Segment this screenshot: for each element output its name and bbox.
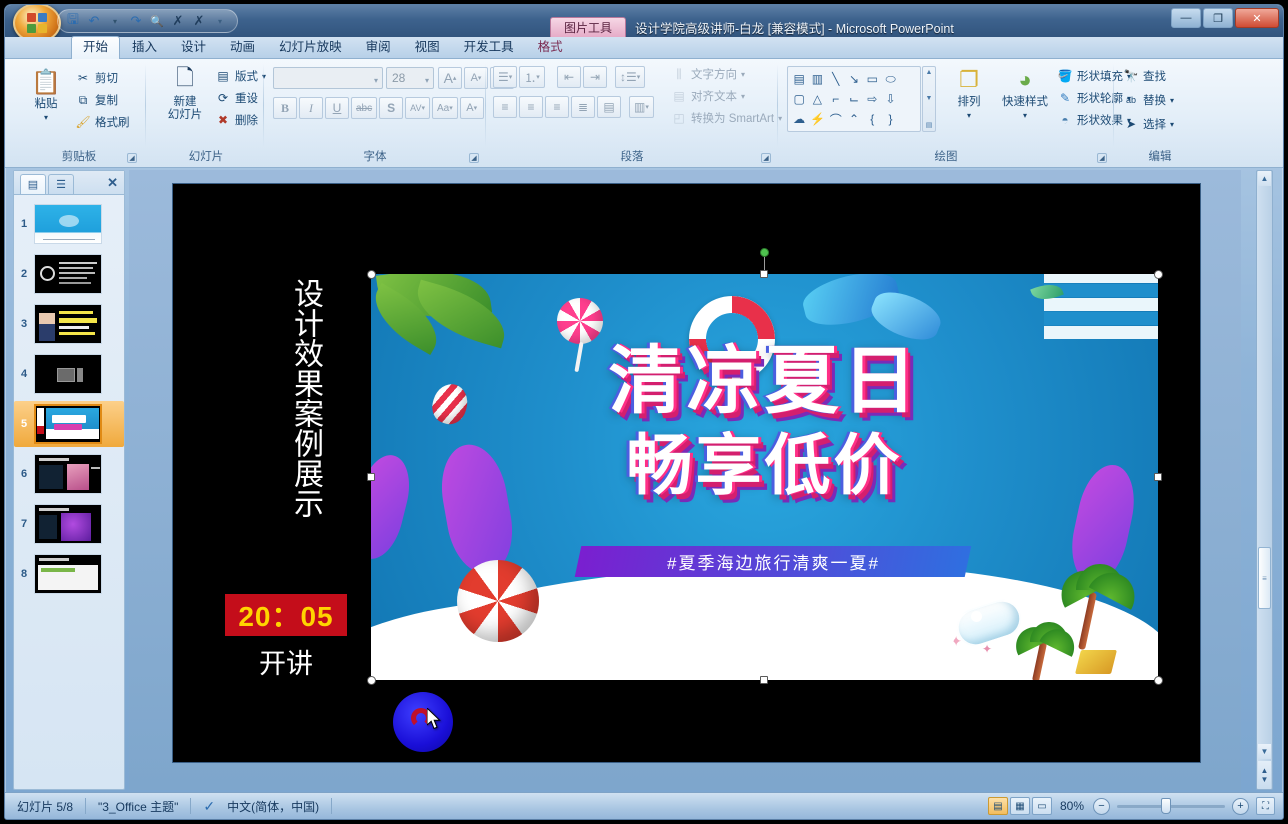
quick-styles-label: 快速样式 [1002, 96, 1048, 109]
lollipop-icon [557, 298, 603, 344]
copy-button[interactable]: ⧉ 复制 [75, 90, 118, 110]
align-left-button[interactable]: ≡ [493, 96, 517, 118]
quick-styles-arrow[interactable]: ▾ [1023, 109, 1027, 122]
binoculars-icon: 🔭 [1123, 68, 1139, 84]
pane-tabs: ▤ ☰ ✕ [14, 171, 124, 195]
thumbnail-preview[interactable] [34, 504, 102, 544]
thumbnail-number: 4 [14, 368, 34, 380]
shapes-more-icon[interactable]: ▤ [926, 121, 933, 129]
shape-blank3-icon [900, 109, 918, 129]
font-size-input[interactable]: 28 ▾ [386, 67, 434, 89]
shape-rectangle-icon[interactable]: ▭ [863, 69, 881, 89]
delete-slide-button[interactable]: ✖ 删除 [215, 110, 258, 130]
bold-label: B [281, 101, 289, 116]
slide-editor-area: 设计效果案例展示 20：05 开讲 [129, 170, 1241, 790]
status-separator [331, 798, 332, 814]
quick-access-toolbar: 🖫 ↶ ▾ ↷ 🔍 ✗ ✗ ▾ [57, 9, 238, 33]
layout-button[interactable]: ▤ 版式 ▾ [215, 66, 266, 86]
zoom-controls: 80% − + ⛶ [1058, 797, 1283, 815]
find-label: 查找 [1143, 68, 1166, 84]
replace-label: 替换 [1143, 92, 1166, 108]
arrange-arrow[interactable]: ▾ [967, 109, 971, 122]
reset-icon: ⟳ [215, 90, 231, 106]
text-direction-icon: ⫼ [671, 66, 687, 82]
align-right-button[interactable]: ≡ [545, 96, 569, 118]
text-direction-arrow[interactable]: ▾ [741, 70, 745, 79]
select-label: 选择 [1143, 116, 1166, 132]
slide-nav-buttons[interactable]: ▲ ▼ [1258, 761, 1271, 789]
text-direction-button[interactable]: ⫼ 文字方向 ▾ [671, 64, 745, 84]
beach-umbrella-icon [1044, 274, 1158, 344]
copy-label: 复制 [95, 92, 118, 108]
view-slideshow-button[interactable]: ▭ [1032, 797, 1052, 815]
shape-triangle-icon[interactable]: △ [808, 89, 826, 109]
shape-textbox-icon[interactable]: ▤ [790, 69, 808, 89]
shape-oval-icon[interactable]: ⬭ [881, 69, 899, 89]
drawing-dialog-launcher[interactable]: ◢ [1097, 153, 1107, 163]
ribbon-group-clipboard: 📋 粘贴 ▾ ✂ 剪切 ⧉ 复制 🖌 格式刷 剪贴板 ◢ [17, 60, 141, 165]
title-bar: 🖫 ↶ ▾ ↷ 🔍 ✗ ✗ ▾ 图片工具 设计学院高级讲师-白龙 [兼容模式] … [5, 5, 1283, 37]
select-button[interactable]: ➤ 选择 ▾ [1123, 114, 1174, 134]
ribbon-group-drawing: ▤ ▥ ╲ ↘ ▭ ⬭ ▢ △ ⌐ ⌙ ⇨ ⇩ ☁ ⚡ ⌒ [781, 60, 1111, 165]
next-slide-button[interactable]: ▼ [1261, 775, 1269, 784]
thumbnail-number: 7 [14, 518, 34, 530]
clipboard-group-label: 剪贴板 [17, 148, 141, 164]
shape-fill-icon: 🪣 [1057, 68, 1073, 84]
replace-button[interactable]: ab 替换 ▾ [1123, 90, 1174, 110]
numbering-button[interactable]: ⒈▾ [519, 66, 545, 88]
quick-styles-icon: ◕ [1009, 64, 1041, 96]
format-painter-button[interactable]: 🖌 格式刷 [75, 112, 130, 132]
thumbnail-list[interactable]: 1 2 [14, 195, 124, 789]
close-button[interactable]: ✕ [1235, 8, 1279, 28]
shape-elbow-icon[interactable]: ⌐ [827, 89, 845, 109]
thumbnail-item-7[interactable]: 7 [14, 501, 124, 547]
copy-icon: ⧉ [75, 92, 91, 108]
bubble-icon [914, 612, 928, 626]
bold-button[interactable]: B [273, 97, 297, 119]
scrollbar-thumb[interactable]: ≡ [1258, 547, 1271, 609]
font-size-dropdown-icon[interactable]: ▾ [425, 76, 429, 85]
shapes-gallery[interactable]: ▤ ▥ ╲ ↘ ▭ ⬭ ▢ △ ⌐ ⌙ ⇨ ⇩ ☁ ⚡ ⌒ [787, 66, 921, 132]
pane-tab-slides[interactable]: ▤ [20, 174, 46, 194]
tab-insert[interactable]: 插入 [120, 36, 169, 59]
bubble-icon [701, 630, 711, 640]
justify-button[interactable]: ≣ [571, 96, 595, 118]
font-name-input[interactable]: ▾ [273, 67, 383, 89]
zoom-slider-thumb[interactable] [1161, 798, 1171, 814]
zoom-level[interactable]: 80% [1058, 799, 1086, 813]
smartart-icon: ◰ [671, 110, 687, 126]
thumbnail-item-6[interactable]: 6 [14, 451, 124, 497]
shape-left-brace-icon[interactable]: { [863, 109, 881, 129]
shape-cloud-icon[interactable]: ☁ [790, 109, 808, 129]
tab-design[interactable]: 设计 [169, 36, 218, 59]
shape-right-arrow-icon[interactable]: ⇨ [863, 89, 881, 109]
ribbon-tabs: 开始 插入 设计 动画 幻灯片放映 审阅 视图 开发工具 格式 [71, 37, 575, 59]
slide-thumbnail-pane: ▤ ☰ ✕ 1 2 [13, 170, 125, 790]
poster-headline-line2: 畅享低价 [371, 432, 1158, 498]
pane-close-icon[interactable]: ✕ [107, 175, 118, 191]
font-dialog-launcher[interactable]: ◢ [469, 153, 479, 163]
zoom-slider[interactable] [1117, 805, 1225, 808]
bubble-icon [727, 606, 735, 614]
convert-smartart-label: 转换为 SmartArt [691, 110, 774, 126]
workspace: ▤ ☰ ✕ 1 2 [5, 168, 1283, 792]
pointer-icon: ➤ [1123, 116, 1139, 132]
strikethrough-button[interactable]: abc [351, 97, 377, 119]
distribute-button[interactable]: ▤ [597, 96, 621, 118]
starfish-icon: ✦ [982, 642, 992, 656]
increase-indent-button[interactable]: ⇥ [583, 66, 607, 88]
cut-quick-icon[interactable]: ✗ [169, 12, 187, 30]
character-spacing-label: AV [410, 103, 421, 113]
shape-blank-icon [900, 69, 918, 89]
arrange-button[interactable]: ❐ 排列 ▾ [943, 64, 995, 122]
text-shadow-button[interactable]: S [379, 97, 403, 119]
rotation-handle[interactable] [760, 248, 769, 257]
beach-chair-icon [1075, 650, 1117, 674]
view-buttons: ▤ ▦ ▭ [988, 797, 1058, 815]
delete-slide-label: 删除 [235, 112, 258, 128]
maximize-button[interactable]: ❐ [1203, 8, 1233, 28]
shapes-scrollbar[interactable]: ▲ ▼ ▤ [922, 66, 936, 132]
window-title: 设计学院高级讲师-白龙 [兼容模式] - Microsoft PowerPoin… [635, 18, 954, 37]
shape-blank2-icon [900, 89, 918, 109]
thumbnail-number: 2 [14, 268, 34, 280]
align-text-label: 对齐文本 [691, 88, 737, 104]
grow-font-label: A [444, 70, 453, 86]
new-slide-label2: 幻灯片 [168, 109, 203, 122]
tab-home[interactable]: 开始 [71, 36, 120, 59]
tab-review[interactable]: 审阅 [354, 36, 403, 59]
thumbnail-preview[interactable] [34, 254, 102, 294]
bubble-icon [971, 611, 982, 622]
powerpoint-window: 🖫 ↶ ▾ ↷ 🔍 ✗ ✗ ▾ 图片工具 设计学院高级讲师-白龙 [兼容模式] … [4, 4, 1284, 820]
status-bar: 幻灯片 5/8 "3_Office 主题" ✓ 中文(简体，中国) ▤ ▦ ▭ … [5, 792, 1283, 819]
spellcheck-icon[interactable]: ✓ [191, 798, 227, 815]
thumbnail-preview[interactable] [34, 554, 102, 594]
shapes-scroll-up-icon[interactable]: ▲ [926, 69, 933, 76]
shape-right-brace-icon[interactable]: } [881, 109, 899, 129]
layout-icon: ▤ [215, 68, 231, 84]
paste-icon: 📋 [30, 66, 62, 98]
view-slide-sorter-button[interactable]: ▦ [1010, 797, 1030, 815]
print-preview-icon[interactable]: 🔍 [148, 12, 166, 30]
new-slide-label: 新建 [174, 96, 197, 109]
resize-handle-sw[interactable] [367, 676, 376, 685]
delete-slide-icon: ✖ [215, 112, 231, 128]
arrange-label: 排列 [958, 96, 981, 109]
start-label: 开讲 [225, 642, 347, 681]
tab-slideshow[interactable]: 幻灯片放映 [267, 36, 354, 59]
tab-developer[interactable]: 开发工具 [452, 36, 526, 59]
slides-group-label: 幻灯片 [151, 148, 261, 164]
format-painter-label: 格式刷 [95, 114, 130, 130]
thumbnail-preview[interactable] [34, 204, 102, 244]
shape-arrow-icon[interactable]: ↘ [845, 69, 863, 89]
time-badge: 20：05 [225, 594, 347, 636]
window-buttons: — ❐ ✕ [1171, 8, 1279, 28]
line-spacing-button[interactable]: ↕☰▾ [615, 66, 645, 88]
resize-handle-w[interactable] [367, 473, 375, 481]
underline-button[interactable]: U [325, 97, 349, 119]
scroll-down-button[interactable]: ▼ [1258, 744, 1271, 759]
character-spacing-button[interactable]: AV▾ [405, 97, 430, 119]
resize-handle-ne[interactable] [1154, 270, 1163, 279]
shape-effects-icon: ◓ [1057, 112, 1073, 128]
font-size-value: 28 [392, 71, 405, 85]
shrink-font-label: A [471, 72, 478, 84]
slide-counter: 幻灯片 5/8 [5, 798, 85, 815]
blue-circle-shape[interactable] [393, 692, 453, 752]
shape-elbow2-icon[interactable]: ⌙ [845, 89, 863, 109]
italic-label: I [309, 101, 313, 116]
thumbnail-item-1[interactable]: 1 [14, 201, 124, 247]
reset-button[interactable]: ⟳ 重设 [215, 88, 258, 108]
picture-tools-label: 图片工具 [550, 17, 626, 38]
bubble-icon [945, 635, 954, 644]
thumbnail-item-8[interactable]: 8 [14, 551, 124, 597]
thumbnail-number: 3 [14, 318, 34, 330]
poster-sub-banner-text: #夏季海边旅行清爽一夏# [667, 549, 880, 574]
thumbnail-preview[interactable] [34, 354, 102, 394]
redo-icon[interactable]: ↷ [127, 12, 145, 30]
resize-handle-nw[interactable] [367, 270, 376, 279]
thumbnail-item-3[interactable]: 3 [14, 301, 124, 347]
thumbnail-item-2[interactable]: 2 [14, 251, 124, 297]
resize-handle-se[interactable] [1154, 676, 1163, 685]
paste-dropdown-arrow[interactable]: ▾ [44, 111, 48, 124]
thumbnail-preview[interactable] [34, 404, 102, 444]
resize-handle-e[interactable] [1154, 473, 1162, 481]
shapes-scroll-down-icon[interactable]: ▼ [926, 95, 933, 102]
shape-arc2-icon[interactable]: ⌃ [845, 109, 863, 129]
tab-format[interactable]: 格式 [526, 36, 575, 59]
minimize-button[interactable]: — [1171, 8, 1201, 28]
poster-headline-line1: 清凉夏日 [371, 344, 1158, 418]
font-color-label: A [466, 102, 473, 114]
replace-arrow[interactable]: ▾ [1170, 96, 1174, 105]
palm-tree-icon-small [1010, 622, 1072, 680]
ribbon: 📋 粘贴 ▾ ✂ 剪切 ⧉ 复制 🖌 格式刷 剪贴板 ◢ [5, 59, 1283, 168]
font-group-label: 字体 [267, 148, 483, 164]
pane-tab-outline[interactable]: ☰ [48, 174, 74, 194]
shape-arc-icon[interactable]: ⌒ [827, 109, 845, 129]
align-text-icon: ▤ [671, 88, 687, 104]
align-text-button[interactable]: ▤ 对齐文本 ▾ [671, 86, 745, 106]
align-center-button[interactable]: ≡ [519, 96, 543, 118]
undo-icon[interactable]: ↶ [85, 12, 103, 30]
text-shadow-label: S [387, 101, 395, 115]
theme-name[interactable]: "3_Office 主题" [86, 798, 190, 815]
paragraph-group-label: 段落 [489, 148, 775, 164]
editing-group-label: 编辑 [1117, 148, 1203, 164]
beach-ball-icon [457, 560, 539, 642]
new-slide-icon: 🗋 [169, 64, 201, 96]
paintbrush-icon: 🖌 [75, 114, 91, 130]
shape-line-icon[interactable]: ╲ [827, 69, 845, 89]
ribbon-group-font: ▾ 28 ▾ A▴ A▾ Aa B I U abc S AV▾ [267, 60, 483, 165]
change-case-button[interactable]: Aa▾ [432, 97, 458, 119]
tab-view[interactable]: 视图 [403, 36, 452, 59]
bullets-button[interactable]: ☰▾ [493, 66, 517, 88]
font-color-button[interactable]: A▾ [460, 97, 484, 119]
poster-sub-banner: #夏季海边旅行清爽一夏# [575, 546, 972, 577]
bubble-icon [617, 651, 626, 660]
zoom-in-button[interactable]: + [1232, 798, 1249, 815]
bubble-icon [671, 606, 687, 622]
current-slide[interactable]: 设计效果案例展示 20：05 开讲 [173, 184, 1200, 762]
change-case-label: Aa [437, 103, 449, 114]
convert-smartart-button[interactable]: ◰ 转换为 SmartArt ▾ [671, 108, 782, 128]
scissors-icon: ✂ [75, 70, 91, 86]
resize-handle-s[interactable] [760, 676, 768, 684]
thumbnail-preview[interactable] [34, 304, 102, 344]
thumbnail-number: 6 [14, 468, 34, 480]
columns-button[interactable]: ▥▾ [629, 96, 654, 118]
paste-label: 粘贴 [35, 98, 58, 111]
vertical-scrollbar[interactable]: ▲ ≡ ▼ ▲ ▼ [1256, 170, 1273, 790]
new-slide-button[interactable]: 🗋 新建 幻灯片 [157, 64, 213, 122]
office-logo-icon [27, 13, 47, 33]
zoom-out-button[interactable]: − [1093, 798, 1110, 815]
undo-dropdown-icon[interactable]: ▾ [106, 12, 124, 30]
replace-icon: ab [1123, 92, 1139, 108]
cut-label: 剪切 [95, 70, 118, 86]
italic-button[interactable]: I [299, 97, 323, 119]
save-icon[interactable]: 🖫 [64, 12, 82, 30]
ribbon-group-slides: 🗋 新建 幻灯片 ▤ 版式 ▾ ⟳ 重设 ✖ 删除 幻灯片 [151, 60, 261, 165]
slide-vertical-caption: 设计效果案例展示 [273, 278, 323, 518]
decrease-indent-button[interactable]: ⇤ [557, 66, 581, 88]
quick-styles-button[interactable]: ◕ 快速样式 ▾ [997, 64, 1053, 122]
find-button[interactable]: 🔭 查找 [1123, 66, 1166, 86]
paste-button[interactable]: 📋 粘贴 ▾ [21, 66, 71, 124]
shape-rounded-rect-icon[interactable]: ▢ [790, 89, 808, 109]
shape-lightning-icon[interactable]: ⚡ [808, 109, 826, 129]
thumbnail-item-4[interactable]: 4 [14, 351, 124, 397]
shape-chart-icon[interactable]: ▥ [808, 69, 826, 89]
tab-animations[interactable]: 动画 [218, 36, 267, 59]
previous-slide-button[interactable]: ▲ [1261, 766, 1269, 775]
underline-label: U [333, 101, 342, 115]
customize-qat-icon[interactable]: ▾ [211, 12, 229, 30]
resize-handle-n[interactable] [760, 270, 768, 278]
font-name-dropdown-icon[interactable]: ▾ [374, 76, 378, 85]
thumbnail-item-5[interactable]: 5 [14, 401, 124, 447]
reset-label: 重设 [235, 90, 258, 106]
grow-font-button[interactable]: A▴ [438, 67, 462, 89]
paragraph-dialog-launcher[interactable]: ◢ [761, 153, 771, 163]
arrange-icon: ❐ [953, 64, 985, 96]
shape-down-arrow-icon[interactable]: ⇩ [881, 89, 899, 109]
strikethrough-label: abc [356, 103, 372, 114]
ribbon-group-editing: 🔭 查找 ab 替换 ▾ ➤ 选择 ▾ 编辑 [1117, 60, 1203, 165]
layout-label: 版式 [235, 68, 258, 84]
view-normal-button[interactable]: ▤ [988, 797, 1008, 815]
align-text-arrow[interactable]: ▾ [741, 92, 745, 101]
drawing-group-label: 绘图 [781, 148, 1111, 164]
language-indicator[interactable]: 中文(简体，中国) [227, 798, 331, 815]
thumbnail-preview[interactable] [34, 454, 102, 494]
thumbnail-number: 5 [14, 418, 34, 430]
clipboard-dialog-launcher[interactable]: ◢ [127, 153, 137, 163]
ribbon-tab-strip: 开始 插入 设计 动画 幻灯片放映 审阅 视图 开发工具 格式 [5, 37, 1283, 59]
fit-to-window-button[interactable]: ⛶ [1256, 797, 1275, 815]
ribbon-group-paragraph: ☰▾ ⒈▾ ⇤ ⇥ ↕☰▾ ≡ ≡ ≡ ≣ ▤ ▥▾ [489, 60, 775, 165]
scroll-up-button[interactable]: ▲ [1258, 171, 1271, 186]
select-arrow[interactable]: ▾ [1170, 120, 1174, 129]
thumbnail-number: 1 [14, 218, 34, 230]
thumbnail-number: 8 [14, 568, 34, 580]
bubble-icon [577, 632, 589, 644]
poster-image[interactable]: 清凉夏日 畅享低价 #夏季海边旅行清爽一夏# ✦ ✦ [371, 274, 1158, 680]
delete-quick-icon[interactable]: ✗ [190, 12, 208, 30]
text-direction-label: 文字方向 [691, 66, 737, 82]
cut-button[interactable]: ✂ 剪切 [75, 68, 118, 88]
shape-outline-icon: ✎ [1057, 90, 1073, 106]
